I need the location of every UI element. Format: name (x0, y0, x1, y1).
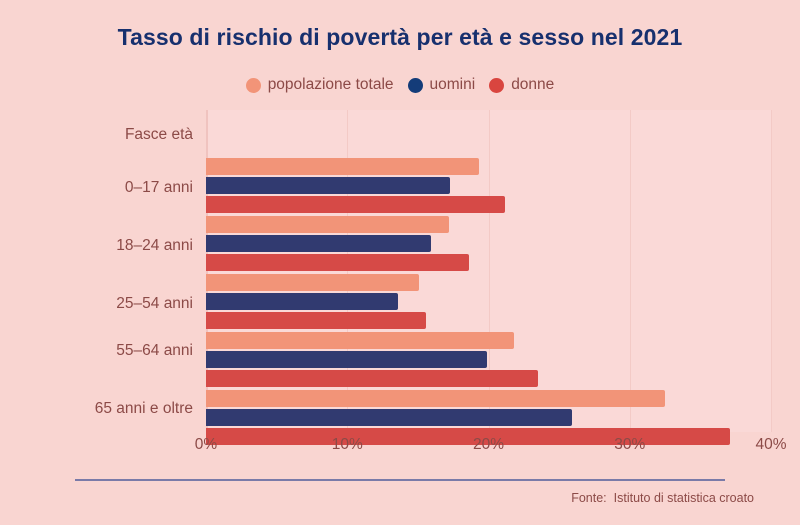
legend-swatch-icon (408, 78, 423, 93)
bar-men[interactable] (206, 177, 450, 194)
bar-total[interactable] (206, 216, 449, 233)
category-label-2: 25–54 anni (0, 295, 193, 313)
legend-label: donne (511, 76, 554, 94)
bar-group (206, 274, 771, 329)
category-label-4: 65 anni e oltre (0, 400, 193, 418)
y-axis-header: Fasce età (0, 126, 193, 144)
legend-item-donne[interactable]: donne (489, 76, 554, 94)
bar-total[interactable] (206, 332, 514, 349)
chart-legend: popolazione totale uomini donne (0, 76, 800, 94)
bar-group (206, 158, 771, 213)
legend-item-popolazione-totale[interactable]: popolazione totale (246, 76, 394, 94)
bar-total[interactable] (206, 274, 419, 291)
legend-label: uomini (430, 76, 476, 94)
chart-root: Tasso di rischio di povertà per età e se… (0, 0, 800, 525)
legend-swatch-icon (489, 78, 504, 93)
x-tick-label: 20% (473, 436, 504, 454)
legend-swatch-icon (246, 78, 261, 93)
bar-women[interactable] (206, 312, 426, 329)
x-axis-ticks: 0%10%20%30%40% (0, 436, 800, 462)
bar-women[interactable] (206, 196, 505, 213)
bar-total[interactable] (206, 158, 479, 175)
bar-men[interactable] (206, 409, 572, 426)
bar-women[interactable] (206, 254, 469, 271)
source-footer: Fonte: Istituto di statistica croato (571, 491, 754, 505)
x-tick-label: 0% (195, 436, 217, 454)
bar-women[interactable] (206, 370, 538, 387)
plot-area (206, 110, 771, 432)
bar-men[interactable] (206, 351, 487, 368)
category-label-0: 0–17 anni (0, 179, 193, 197)
bar-men[interactable] (206, 235, 431, 252)
legend-label: popolazione totale (268, 76, 394, 94)
x-tick-label: 10% (332, 436, 363, 454)
source-value: Istituto di statistica croato (614, 491, 754, 505)
source-label: Fonte: (571, 491, 606, 505)
category-label-1: 18–24 anni (0, 237, 193, 255)
x-tick-label: 30% (614, 436, 645, 454)
footer-divider (75, 479, 725, 481)
category-label-3: 55–64 anni (0, 342, 193, 360)
chart-title: Tasso di rischio di povertà per età e se… (0, 24, 800, 51)
bar-men[interactable] (206, 293, 398, 310)
legend-item-uomini[interactable]: uomini (408, 76, 476, 94)
bar-group (206, 332, 771, 387)
gridline (771, 110, 772, 432)
x-tick-label: 40% (755, 436, 786, 454)
bar-group (206, 216, 771, 271)
bar-total[interactable] (206, 390, 665, 407)
